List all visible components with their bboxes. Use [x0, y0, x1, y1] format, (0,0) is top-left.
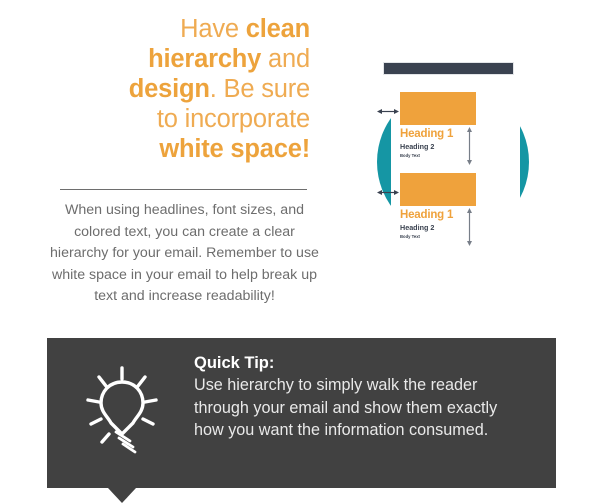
infographic-canvas: Have clean hierarchy and design. Be sure…	[0, 0, 600, 503]
vertical-spacing-arrow-icon	[465, 208, 474, 246]
email-mockup-illustration: Heading 1 Heading 2 Body Text Heading 1 …	[355, 55, 570, 270]
image-block-1	[400, 92, 476, 125]
quick-tip-body: Use hierarchy to simply walk the reader …	[194, 374, 524, 442]
lightbulb-icon	[78, 362, 170, 458]
quick-tip-text: Quick Tip: Use hierarchy to simply walk …	[194, 352, 524, 442]
horizontal-spacing-arrow-icon	[377, 103, 399, 112]
horizontal-spacing-arrow-icon	[377, 184, 399, 193]
headline-line-1: Have clean	[180, 15, 310, 43]
vertical-spacing-arrow-icon	[465, 127, 474, 165]
headline-line-2: hierarchy and	[148, 45, 310, 73]
quick-tip-title: Quick Tip:	[194, 352, 524, 374]
headline-line-4: to incorporate	[157, 105, 310, 133]
headline-line-3: design. Be sure	[129, 75, 310, 103]
headline-line-5: white space!	[159, 135, 310, 163]
page-title: Have clean hierarchy and design. Be sure…	[52, 14, 310, 164]
body-paragraph: When using headlines, font sizes, and co…	[47, 200, 322, 308]
image-block-2	[400, 173, 476, 206]
email-header-bar	[383, 62, 514, 75]
panel-pointer-triangle	[108, 488, 136, 503]
horizontal-divider	[60, 189, 307, 190]
